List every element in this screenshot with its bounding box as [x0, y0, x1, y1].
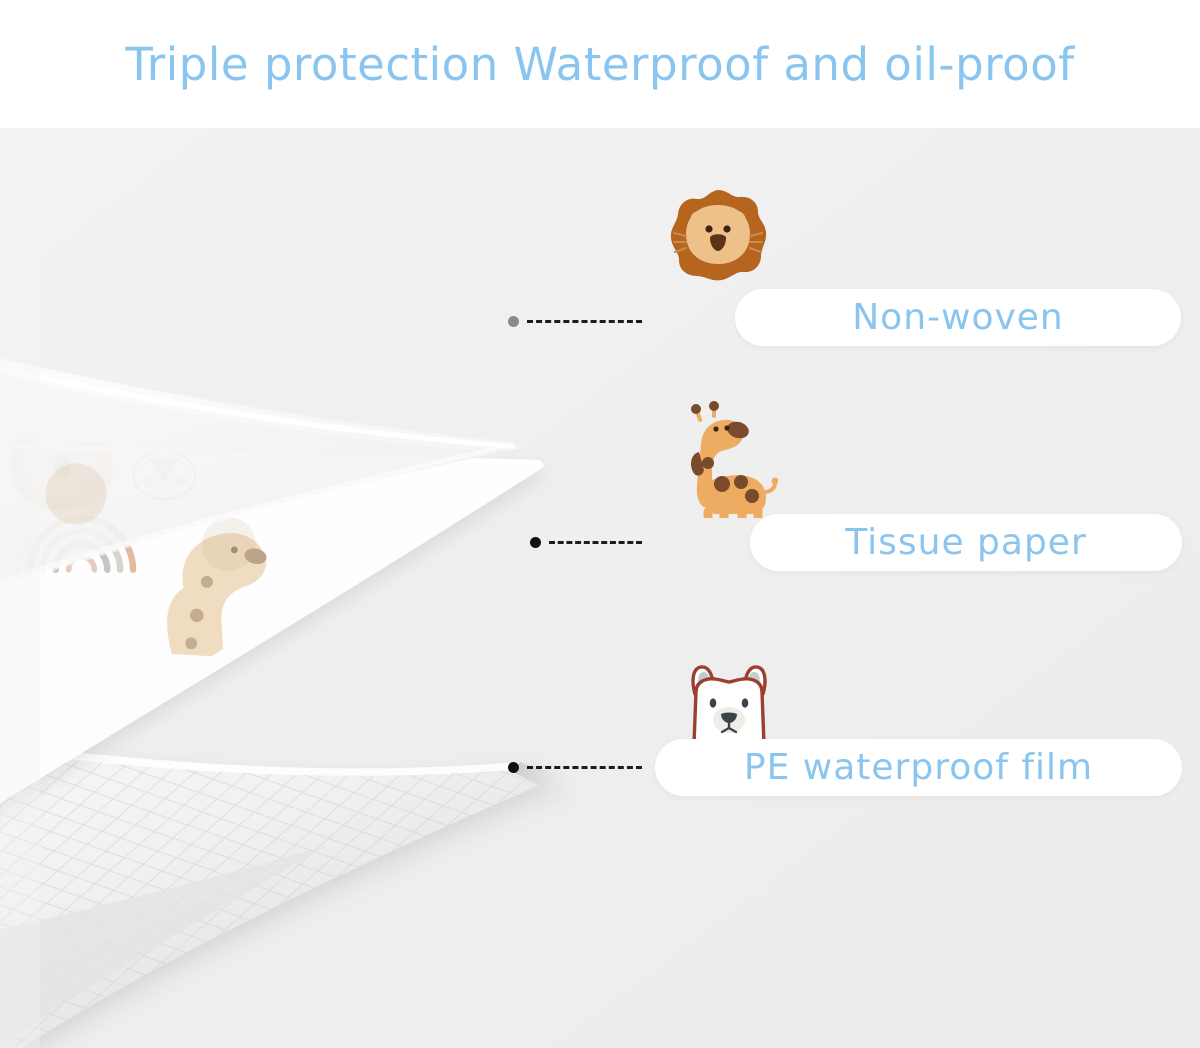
leader-line-tissue-paper [530, 535, 642, 549]
leader-dot [508, 762, 519, 773]
callout-tissue-paper[interactable]: Tissue paper [750, 514, 1182, 571]
lion-icon [666, 188, 770, 288]
layered-pad-illustration [0, 128, 1200, 1048]
callout-non-woven[interactable]: Non-woven [735, 289, 1181, 346]
bear-icon [681, 658, 777, 744]
product-infographic-panel: Non-woven [0, 128, 1200, 1048]
leader-line-pe-film [508, 760, 642, 774]
giraffe-icon [678, 400, 778, 518]
leader-dot [530, 537, 541, 548]
leader-line-non-woven [508, 314, 642, 328]
callout-label-pe-waterproof-film: PE waterproof film [744, 747, 1093, 788]
callout-label-non-woven: Non-woven [852, 297, 1064, 338]
leader-dot [508, 316, 519, 327]
leader-dash [527, 320, 642, 323]
leader-dash [527, 766, 642, 769]
leader-dash [549, 541, 642, 544]
callout-pe-waterproof-film[interactable]: PE waterproof film [655, 739, 1182, 796]
header-banner: Triple protection Waterproof and oil-pro… [0, 0, 1200, 128]
page-title: Triple protection Waterproof and oil-pro… [125, 38, 1074, 91]
callout-label-tissue-paper: Tissue paper [845, 522, 1087, 563]
